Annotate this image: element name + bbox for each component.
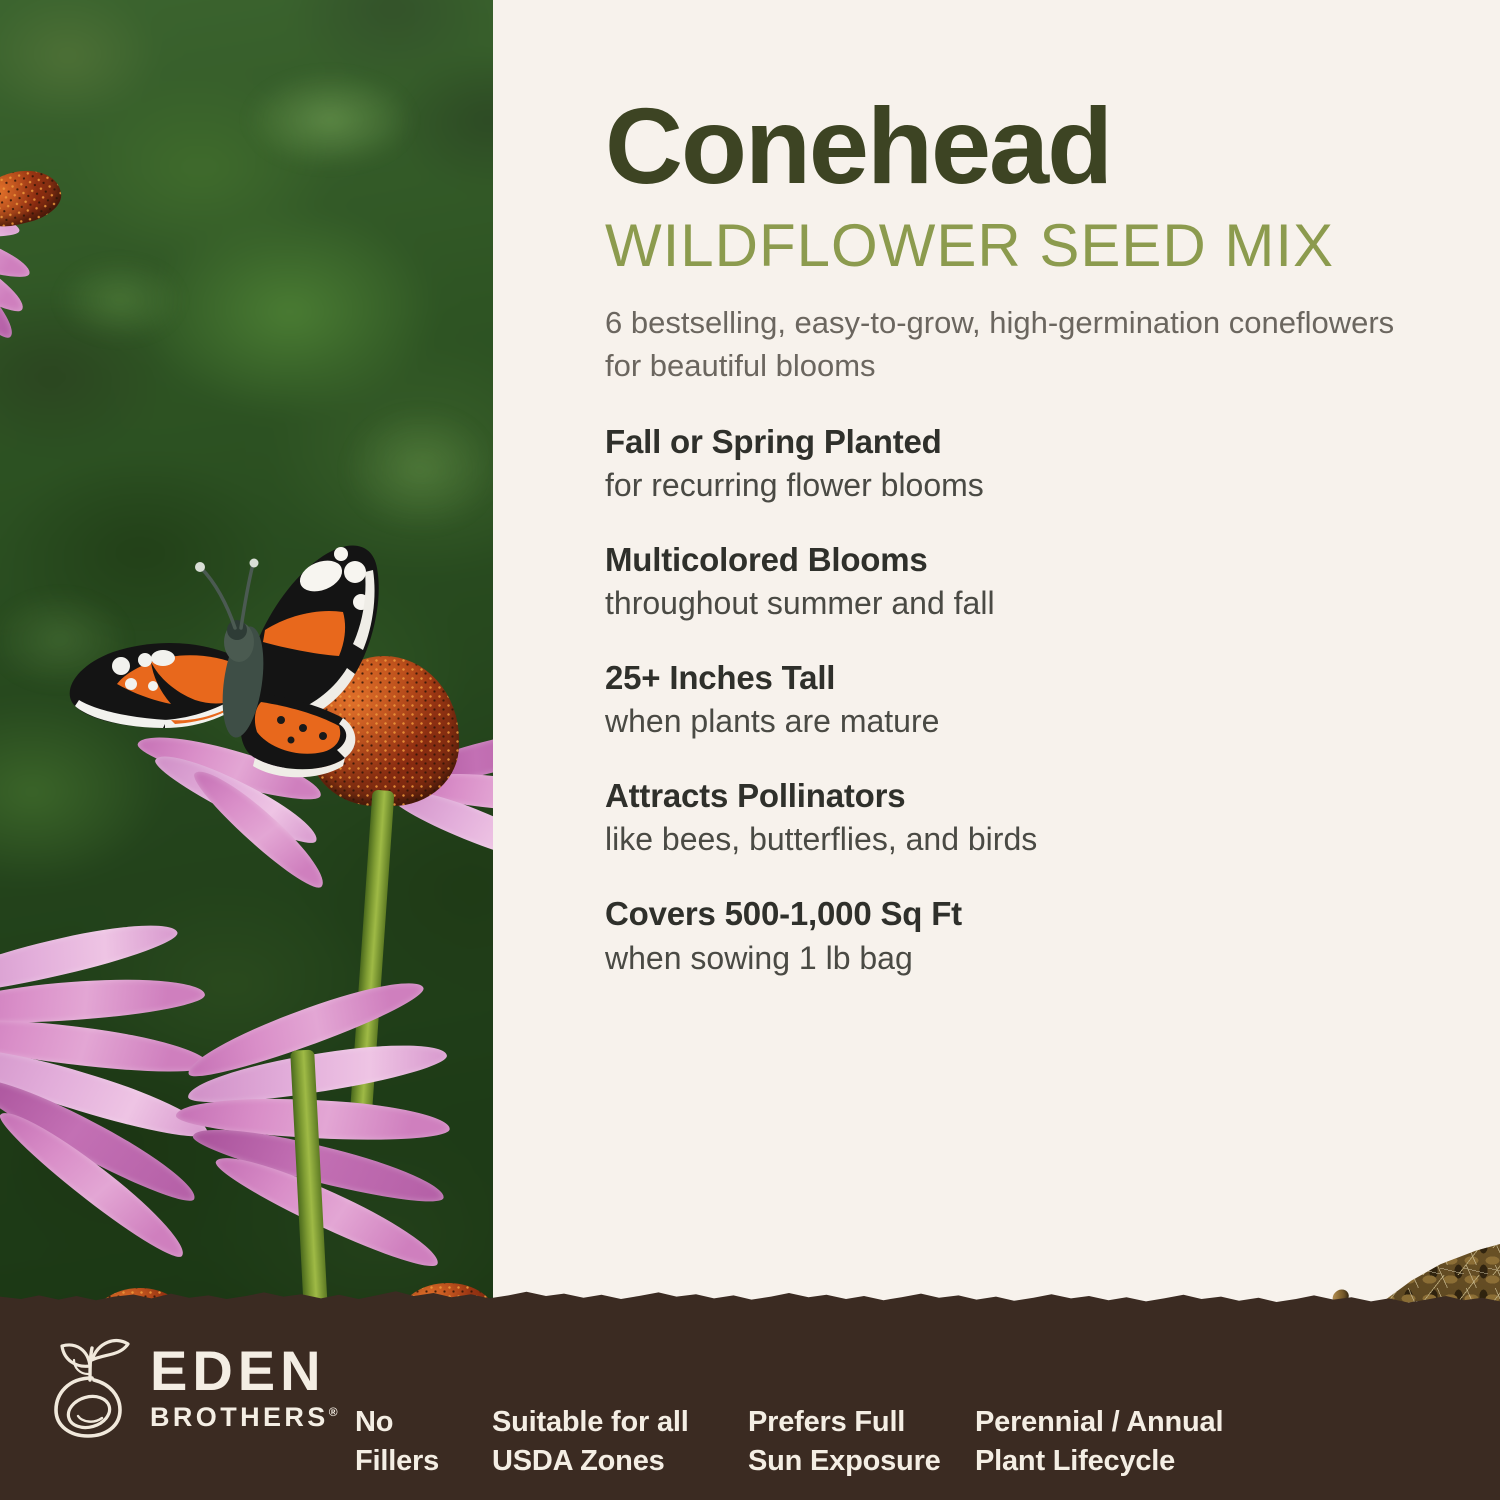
footer-badge-plant-lifecycle: Perennial / Annual Plant Lifecycle [975,1403,1223,1480]
product-details-panel: Conehead WILDFLOWER SEED MIX 6 bestselli… [493,0,1500,1500]
brand-secondary-text: BROTHERS [150,1402,329,1432]
butterfly-icon [55,520,425,820]
badge-line-2: Fillers [355,1442,439,1481]
feature-item: Covers 500-1,000 Sq Ft when sowing 1 lb … [605,894,1405,978]
brand-name-secondary: BROTHERS® [150,1404,341,1431]
feature-item: Fall or Spring Planted for recurring flo… [605,422,1405,506]
badge-line-2: Sun Exposure [748,1442,941,1481]
product-description: 6 bestselling, easy-to-grow, high-germin… [605,302,1405,388]
feature-subline: throughout summer and fall [605,583,1405,624]
butterfly-on-coneflower-photo [0,0,493,1500]
seedling-sprout-icon [48,1334,136,1440]
feature-headline: Covers 500-1,000 Sq Ft [605,894,1405,934]
footer-badge-sun-exposure: Prefers Full Sun Exposure [748,1403,941,1480]
feature-headline: Attracts Pollinators [605,776,1405,816]
footer-badge-no-fillers: No Fillers [355,1403,439,1480]
feature-subline: when sowing 1 lb bag [605,938,1405,979]
red-admiral-butterfly [55,520,425,820]
feature-headline: 25+ Inches Tall [605,658,1405,698]
feature-headline: Multicolored Blooms [605,540,1405,580]
feature-item: 25+ Inches Tall when plants are mature [605,658,1405,742]
feature-headline: Fall or Spring Planted [605,422,1405,462]
badge-line-2: Plant Lifecycle [975,1442,1223,1481]
page-title: Conehead [605,92,1405,200]
feature-subline: when plants are mature [605,701,1405,742]
brand-name-primary: EDEN [150,1343,341,1399]
badge-line-2: USDA Zones [492,1442,689,1481]
badge-line-1: Suitable for all [492,1403,689,1442]
badge-line-1: Perennial / Annual [975,1403,1223,1442]
footer-badge-usda-zones: Suitable for all USDA Zones [492,1403,689,1480]
badge-line-1: Prefers Full [748,1403,941,1442]
feature-item: Attracts Pollinators like bees, butterfl… [605,776,1405,860]
badge-line-1: No [355,1403,439,1442]
product-info-card: Conehead WILDFLOWER SEED MIX 6 bestselli… [0,0,1500,1500]
brand-wordmark: EDEN BROTHERS® [150,1343,341,1431]
feature-subline: for recurring flower blooms [605,465,1405,506]
registered-mark: ® [329,1405,341,1419]
product-subtitle: WILDFLOWER SEED MIX [605,216,1405,276]
feature-item: Multicolored Blooms throughout summer an… [605,540,1405,624]
feature-subline: like bees, butterflies, and birds [605,819,1405,860]
brand-logo: EDEN BROTHERS® [48,1334,341,1440]
coneflower-top-left [0,150,170,410]
